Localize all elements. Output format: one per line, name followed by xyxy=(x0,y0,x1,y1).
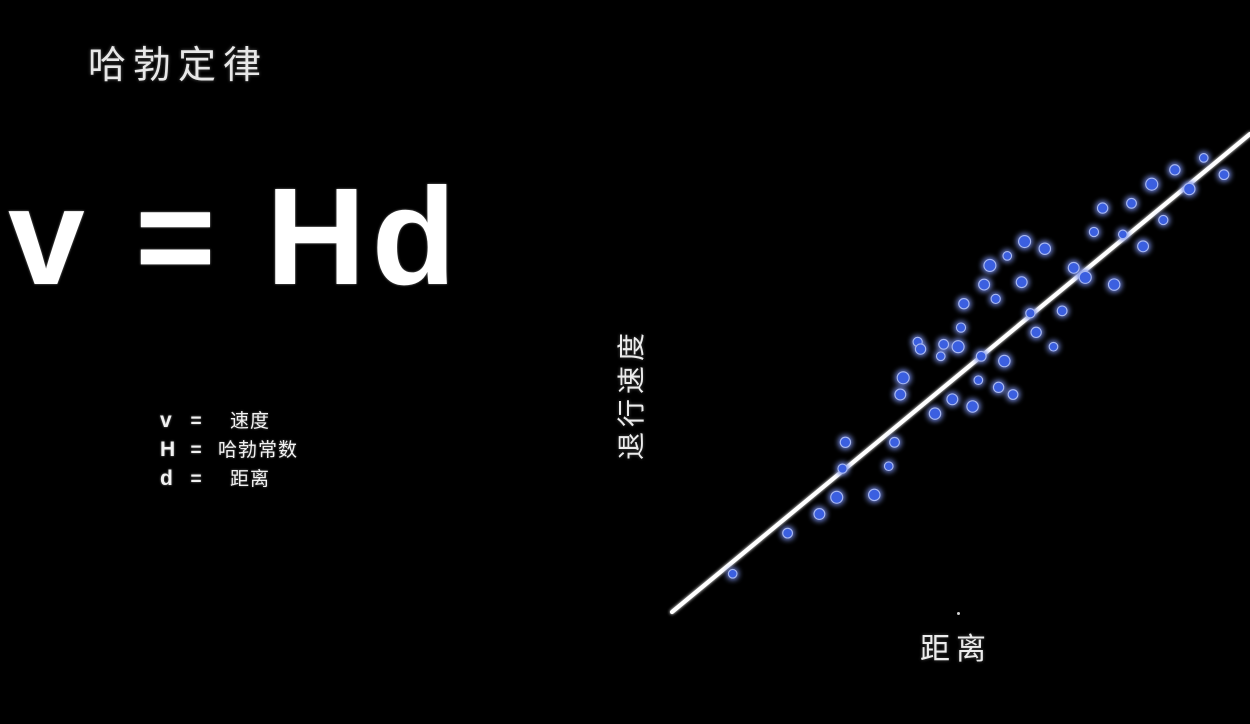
data-point xyxy=(967,401,978,412)
data-point xyxy=(1138,241,1149,252)
data-point xyxy=(939,339,949,349)
data-point xyxy=(1016,277,1027,288)
data-point xyxy=(1199,154,1208,163)
legend-equals-h: = xyxy=(180,440,212,462)
data-point xyxy=(915,344,925,354)
trend-line xyxy=(672,134,1250,612)
data-point xyxy=(1031,327,1041,337)
data-point xyxy=(1170,165,1180,175)
data-point xyxy=(1127,198,1137,208)
data-point xyxy=(1039,243,1050,254)
legend-equals-v: = xyxy=(180,411,212,433)
hubble-law-slide: 哈勃定律 v = Hd v = 速度 H = 哈勃常数 d = 距离 xyxy=(0,0,1250,724)
data-point xyxy=(1026,309,1035,318)
chart-canvas xyxy=(600,120,1250,680)
data-point xyxy=(959,299,969,309)
data-point xyxy=(1097,203,1107,213)
data-point xyxy=(1068,262,1079,273)
data-point xyxy=(984,259,996,271)
data-point xyxy=(1057,306,1067,316)
data-point xyxy=(929,408,940,419)
legend-term-hubble-constant: 哈勃常数 xyxy=(212,435,298,462)
data-point xyxy=(936,352,945,361)
page-title: 哈勃定律 xyxy=(88,34,268,89)
data-points xyxy=(728,154,1228,578)
data-point xyxy=(884,462,893,471)
hubble-scatter-chart xyxy=(600,120,1250,680)
legend-symbol-h: H xyxy=(160,438,180,462)
legend-row-velocity: v = 速度 xyxy=(160,406,298,435)
data-point xyxy=(979,279,990,290)
data-point xyxy=(1079,271,1091,283)
data-point xyxy=(999,355,1010,366)
data-point xyxy=(947,394,958,405)
legend-term-velocity: 速度 xyxy=(212,406,270,433)
data-point xyxy=(1003,252,1012,261)
x-axis-tick-mark xyxy=(957,612,960,615)
y-axis-label-wrapper: 退行速度 xyxy=(612,460,652,470)
legend-symbol-v: v xyxy=(160,409,180,433)
legend-row-hubble-constant: H = 哈勃常数 xyxy=(160,435,298,464)
data-point xyxy=(1108,279,1119,290)
data-point xyxy=(993,382,1003,392)
data-point xyxy=(838,464,847,473)
data-point xyxy=(1119,230,1128,239)
y-axis-label: 退行速度 xyxy=(610,140,650,460)
data-point xyxy=(890,437,900,447)
data-point xyxy=(976,351,986,361)
legend-equals-d: = xyxy=(180,469,212,491)
data-point xyxy=(1049,342,1058,351)
variable-legend: v = 速度 H = 哈勃常数 d = 距离 xyxy=(160,406,298,493)
legend-row-distance: d = 距离 xyxy=(160,464,298,493)
data-point xyxy=(728,569,737,578)
data-point xyxy=(1019,236,1031,248)
data-point xyxy=(956,323,965,332)
legend-term-distance: 距离 xyxy=(212,464,270,491)
x-axis-label: 距离 xyxy=(920,624,992,668)
data-point xyxy=(814,509,825,520)
data-point xyxy=(974,376,983,385)
data-point xyxy=(897,372,909,384)
legend-symbol-d: d xyxy=(160,467,180,491)
data-point xyxy=(895,389,906,400)
data-point xyxy=(1184,183,1195,194)
data-point xyxy=(991,294,1000,303)
hubble-law-formula: v = Hd xyxy=(8,168,462,306)
data-point xyxy=(1008,390,1018,400)
data-point xyxy=(1089,227,1098,236)
data-point xyxy=(783,528,793,538)
data-point xyxy=(1146,178,1158,190)
data-point xyxy=(869,489,880,500)
data-point xyxy=(1159,215,1168,224)
data-point xyxy=(831,491,843,503)
data-point xyxy=(840,437,850,447)
data-point xyxy=(952,341,964,353)
data-point xyxy=(1219,170,1229,180)
